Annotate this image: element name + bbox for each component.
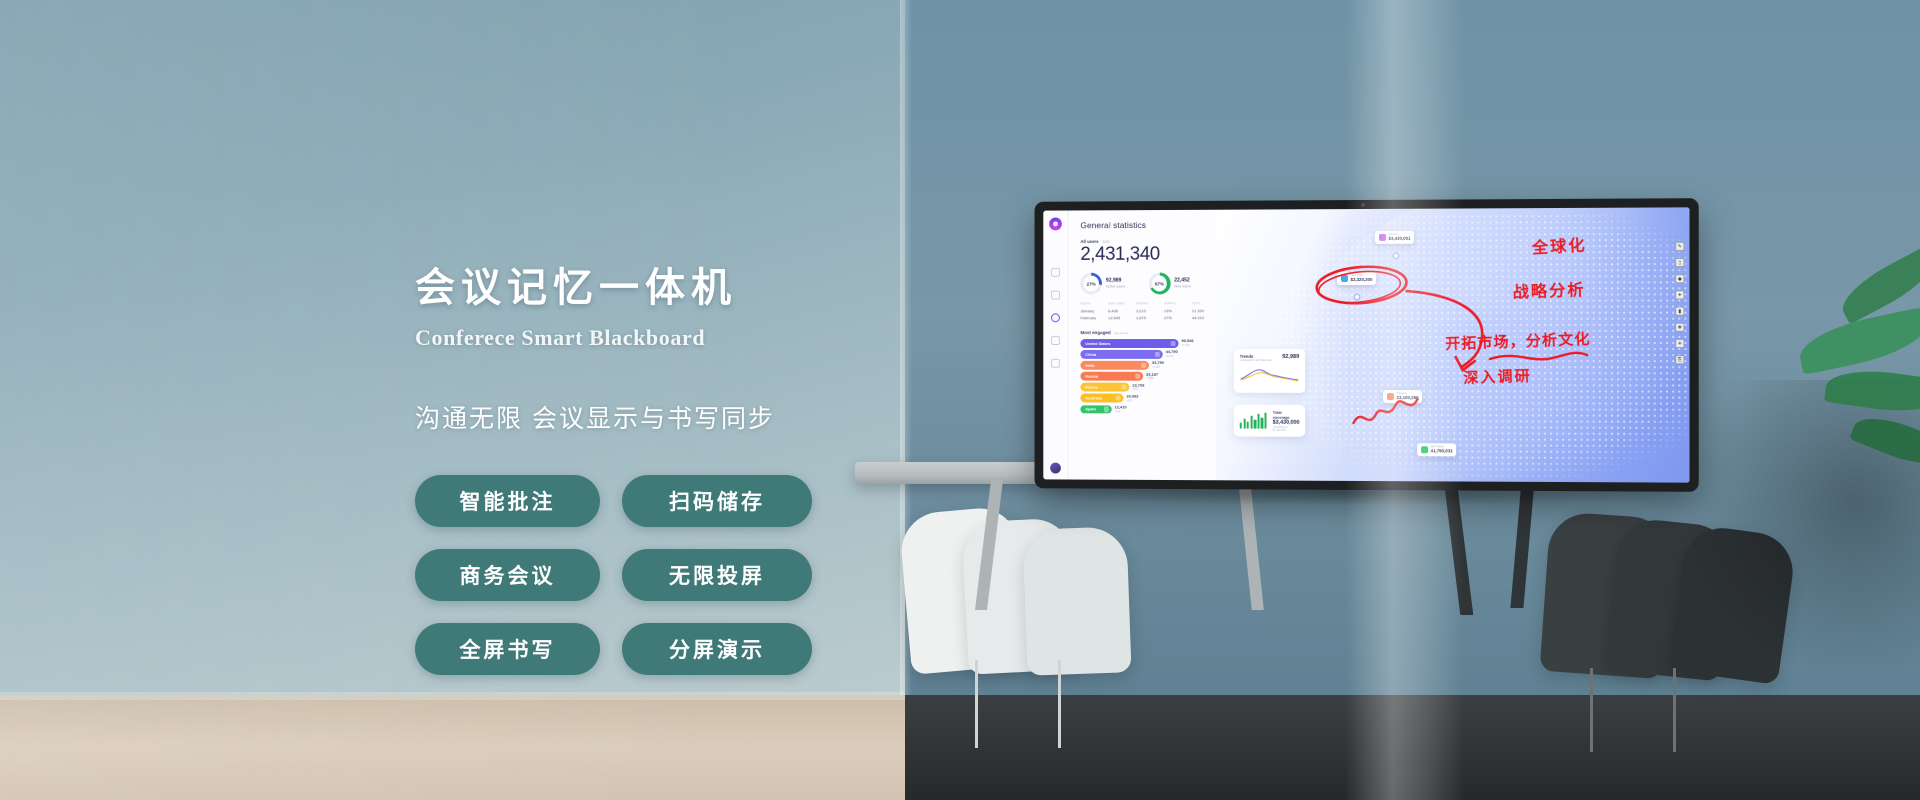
country-bar[interactable]: Australia	[1080, 394, 1123, 403]
hero-copy: 会议记忆一体机 Conferece Smart Blackboard 沟通无限 …	[415, 255, 935, 675]
annotation-globalization: 全球化	[1531, 231, 1587, 258]
table-cell: February	[1080, 313, 1108, 320]
country-name: United States	[1085, 341, 1110, 346]
feature-button-2[interactable]: 扫码储存	[622, 475, 812, 527]
table-cell: 44,310	[1192, 313, 1220, 320]
list-item[interactable]: Russia33,187+2,880	[1080, 372, 1225, 381]
general-statistics-panel: General statistics All users 2023 2,431,…	[1080, 220, 1225, 414]
country-value: 33,187+2,880	[1146, 372, 1158, 380]
most-engaged-sub[interactable]: by country	[1115, 331, 1129, 335]
most-engaged-title: Most engaged	[1080, 330, 1110, 335]
country-bar-list: United States50,546+7,430China44,790+5,2…	[1080, 339, 1225, 414]
room-scene: General statistics All users 2023 2,431,…	[0, 0, 1920, 800]
all-users-period[interactable]: 2023	[1102, 240, 1109, 244]
hero-subtitle-en: Conferece Smart Blackboard	[415, 325, 935, 351]
donut-value-new: 22,452	[1174, 277, 1191, 284]
map-tooltip-toronto[interactable]: Toronto $3,430,001	[1375, 231, 1414, 244]
tooltip-value: 23,100,290	[1396, 396, 1418, 402]
trends-card[interactable]: Trends Compared to 12% last year 92,989	[1234, 349, 1305, 393]
annotation-strategy-analysis: 战略分析	[1512, 276, 1586, 303]
dashboard-body: General statistics All users 2023 2,431,…	[1069, 207, 1690, 482]
feature-button-4[interactable]: 无限投屏	[622, 549, 812, 601]
country-bar[interactable]: India	[1080, 361, 1149, 369]
tooltip-value: $2,320,300	[1351, 277, 1373, 283]
country-name: India	[1085, 363, 1094, 368]
feature-button-1[interactable]: 智能批注	[415, 475, 600, 527]
donut-stat-active: 27% 92,989 Active users	[1080, 273, 1125, 295]
dashboard-sidebar[interactable]	[1043, 210, 1068, 479]
list-item[interactable]: Spain12,410+309	[1080, 405, 1225, 414]
select-icon[interactable]: ▮	[1675, 307, 1684, 316]
donut-percent-active: 27%	[1087, 281, 1096, 286]
sidebar-item-reports-icon[interactable]	[1051, 291, 1060, 300]
flag-icon	[1115, 395, 1120, 400]
flag-icon	[1121, 385, 1126, 390]
donut-chart-new: 67%	[1149, 273, 1171, 295]
list-item[interactable]: United States50,546+7,430	[1080, 339, 1225, 347]
country-value: 50,546+7,430	[1181, 339, 1193, 347]
stats-table: MONTHNEW USERSORDERSTRAFFICTOTAL January…	[1080, 302, 1220, 320]
map-pin-toronto[interactable]	[1394, 254, 1398, 258]
screenshot-icon[interactable]: ⎘	[1675, 355, 1684, 364]
country-bar[interactable]: United States	[1080, 339, 1178, 347]
donut-stat-new: 67% 22,452 New users	[1149, 272, 1191, 294]
layers-icon[interactable]: ❖	[1675, 323, 1684, 332]
all-users-value: 2,431,340	[1080, 245, 1225, 264]
table-cell: 13%	[1164, 305, 1192, 312]
most-engaged-header: Most engaged by country	[1080, 330, 1225, 335]
list-item[interactable]: Australia20,492+613	[1080, 394, 1225, 403]
effects-icon[interactable]: ✳	[1675, 339, 1684, 348]
table-row: January8,4303,21013%21,320	[1080, 305, 1220, 313]
app-logo-icon	[1049, 217, 1062, 230]
trends-value: 92,989	[1282, 354, 1299, 360]
tooltip-swatch	[1378, 234, 1385, 241]
table-cell: January	[1080, 305, 1108, 312]
donut-stats: 27% 92,989 Active users 67%	[1080, 272, 1225, 294]
pen-icon[interactable]: ✎	[1675, 242, 1684, 251]
country-bar[interactable]: Spain	[1080, 405, 1111, 413]
country-bar[interactable]: France	[1080, 383, 1129, 391]
country-bar[interactable]: China	[1080, 350, 1162, 358]
shape-icon[interactable]: ◆	[1675, 274, 1684, 283]
feature-button-5[interactable]: 全屏书写	[415, 623, 600, 675]
coverage-sub: Compared to $3,120,000	[1273, 426, 1300, 432]
map-tooltip-new-york[interactable]: New York $2,320,300	[1337, 272, 1376, 285]
country-name: France	[1085, 385, 1098, 390]
trends-sparkline	[1240, 365, 1300, 388]
tooltip-swatch	[1341, 275, 1348, 282]
table-cell: 21,320	[1192, 305, 1220, 312]
table-cell: 8,430	[1108, 305, 1136, 312]
baseboard	[0, 692, 905, 700]
chair-legs-dark	[1590, 668, 1676, 752]
table-cell: 27%	[1164, 313, 1192, 320]
sidebar-item-wallet-icon[interactable]	[1051, 336, 1060, 345]
table-cell: 12,543	[1108, 313, 1136, 320]
coverage-bar-chart	[1240, 413, 1267, 429]
tooltip-swatch	[1421, 446, 1428, 453]
country-name: Spain	[1085, 407, 1096, 412]
smart-blackboard[interactable]: General statistics All users 2023 2,431,…	[1035, 198, 1699, 492]
table-row: February12,5431,87927%44,310	[1080, 313, 1220, 321]
country-name: China	[1085, 352, 1096, 357]
flag-icon	[1103, 406, 1108, 411]
country-value: 12,410+309	[1115, 405, 1127, 413]
page-title: General statistics	[1080, 220, 1225, 231]
board-screen[interactable]: General statistics All users 2023 2,431,…	[1043, 207, 1689, 482]
flag-icon	[1154, 352, 1159, 357]
feature-button-6[interactable]: 分屏演示	[622, 623, 812, 675]
map-pin-new-york[interactable]	[1355, 295, 1359, 299]
donut-label-new: New users	[1174, 284, 1191, 289]
chair-white-3	[1022, 526, 1131, 676]
feature-button-3[interactable]: 商务会议	[415, 549, 600, 601]
camera-icon	[1361, 203, 1365, 207]
map-tooltip-manaus[interactable]: Manaus 23,100,290	[1383, 390, 1422, 403]
country-bar[interactable]: Russia	[1080, 372, 1143, 380]
table-cell: 3,210	[1136, 305, 1164, 312]
trends-sub: Compared to 12% last year	[1240, 359, 1272, 362]
country-value: 44,790+5,212	[1166, 350, 1178, 358]
map-tooltip-sao-paulo[interactable]: São Paulo 41,790,031	[1417, 443, 1456, 456]
tooltip-swatch	[1386, 393, 1393, 400]
hero-title: 会议记忆一体机	[415, 255, 935, 313]
donut-value-active: 92,989	[1106, 278, 1125, 285]
sidebar-item-dashboard-icon[interactable]	[1051, 268, 1060, 277]
table-cell: 1,879	[1136, 313, 1164, 320]
sidebar-item-globe-icon[interactable]	[1051, 313, 1060, 322]
donut-chart-active: 27%	[1080, 273, 1102, 295]
avatar[interactable]	[1050, 463, 1061, 474]
country-name: Russia	[1085, 374, 1098, 379]
annotation-deep-research: 深入调研	[1463, 365, 1532, 388]
eraser-icon[interactable]: ▯	[1675, 258, 1684, 267]
flag-icon	[1141, 363, 1146, 368]
country-value: 20,492+613	[1126, 394, 1138, 402]
sidebar-nav[interactable]	[1051, 268, 1060, 368]
chair-legs-white	[975, 660, 1061, 748]
highlighter-icon[interactable]: ✦	[1675, 290, 1684, 299]
tooltip-value: $3,430,001	[1388, 236, 1410, 242]
floor-light	[0, 695, 905, 800]
hero-tagline: 沟通无限 会议显示与书写同步	[415, 399, 935, 435]
flag-icon	[1135, 374, 1140, 379]
donut-label-active: Active users	[1106, 285, 1125, 290]
flag-icon	[1170, 341, 1175, 346]
list-item[interactable]: France23,709+842	[1080, 383, 1225, 392]
donut-percent-new: 67%	[1155, 281, 1164, 286]
country-value: 23,709+842	[1132, 383, 1144, 391]
coverage-card[interactable]: Total coverage $3,430,000 Compared to $3…	[1234, 405, 1305, 437]
sidebar-item-settings-icon[interactable]	[1051, 359, 1060, 368]
coverage-title: Total coverage	[1273, 410, 1300, 420]
feature-button-grid: 智能批注扫码储存商务会议无限投屏全屏书写分屏演示	[415, 475, 935, 675]
country-name: Australia	[1085, 396, 1102, 401]
list-item[interactable]: China44,790+5,212	[1080, 350, 1225, 358]
tooltip-value: 41,790,031	[1431, 449, 1453, 455]
board-toolbar[interactable]: ✎▯◆✦▮❖✳⎘	[1675, 242, 1684, 364]
country-value: 34,790+3,480	[1152, 361, 1164, 369]
list-item[interactable]: India34,790+3,480	[1080, 361, 1225, 370]
